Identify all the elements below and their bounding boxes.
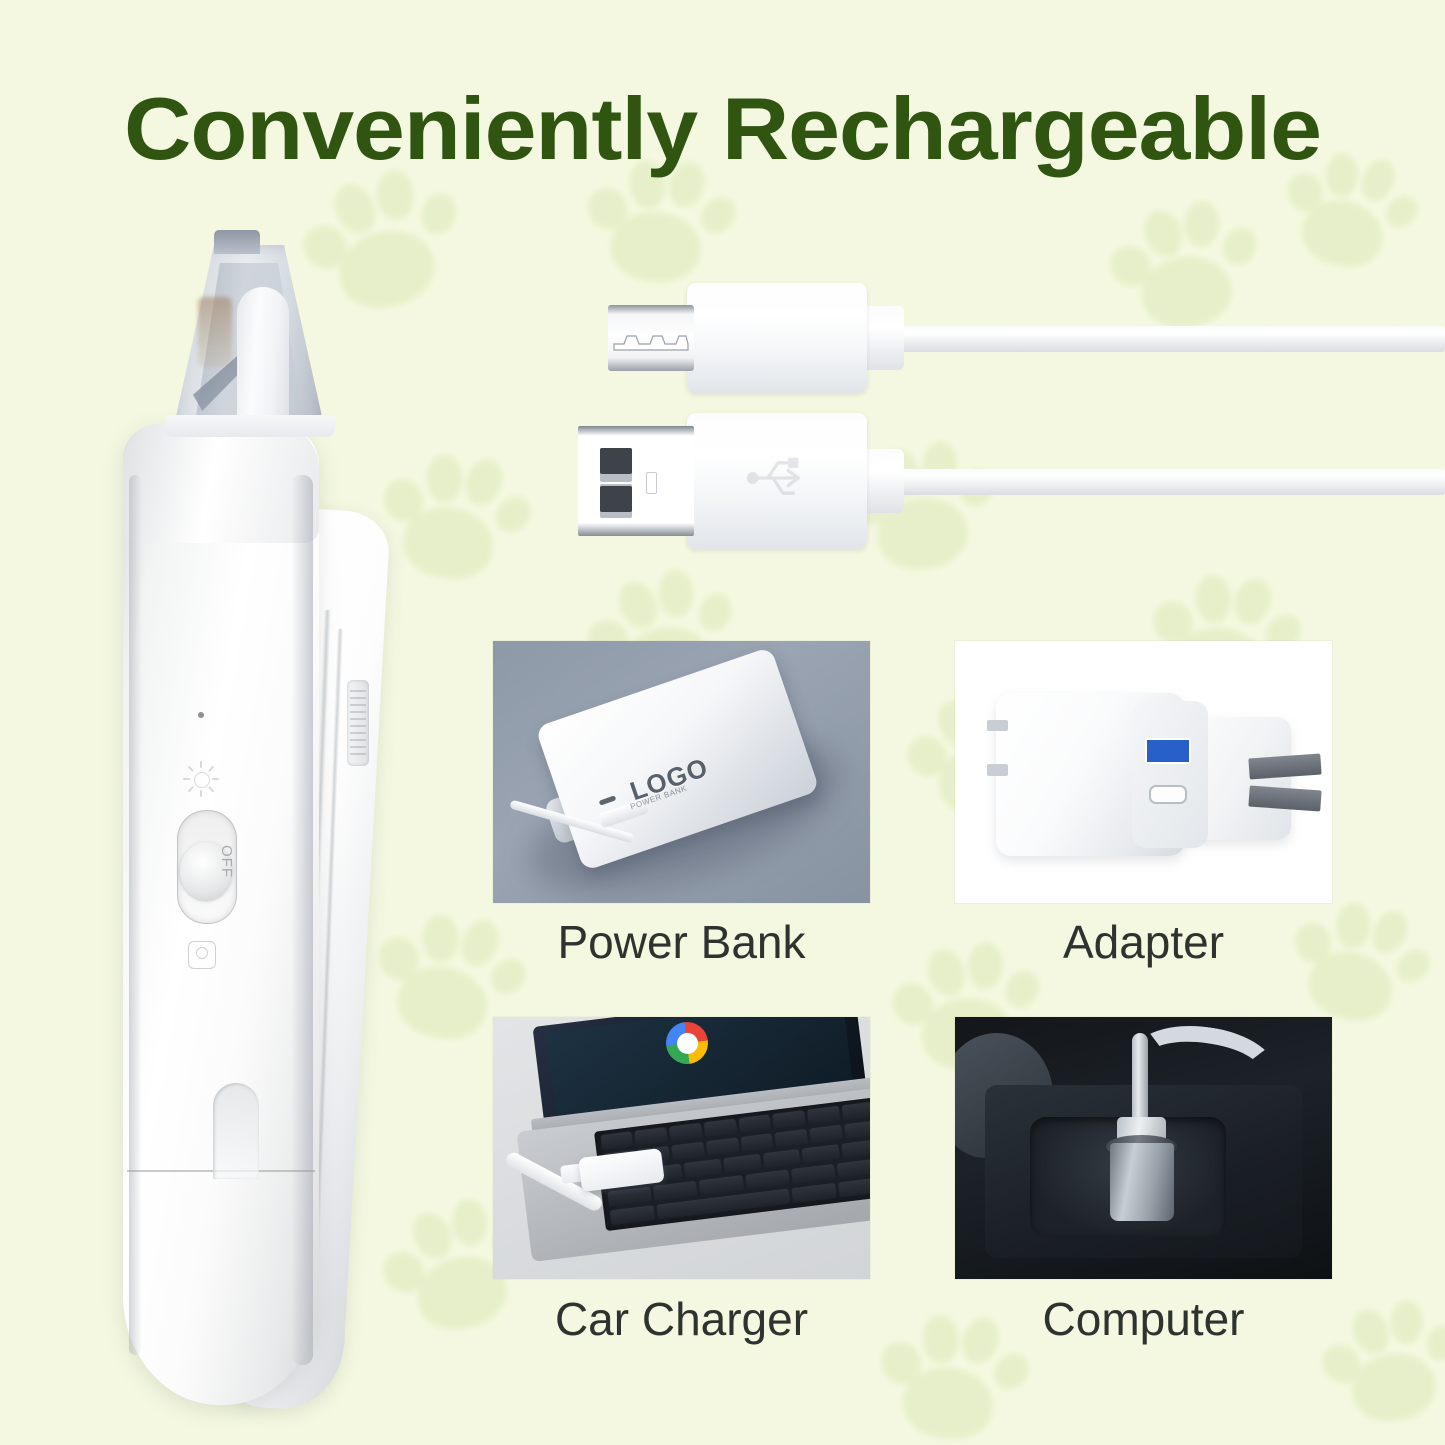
clipper-guard-lip	[165, 415, 335, 437]
usb-a-tip	[578, 426, 694, 536]
adapter-usb-a-port	[1145, 738, 1190, 764]
clipper-release-button[interactable]	[347, 680, 369, 766]
clipper-bottom-slot	[213, 1083, 259, 1179]
adapter-usb-c-port	[1149, 785, 1187, 803]
power-icon	[188, 941, 216, 969]
charging-option-photo-power-bank: LOGO POWER BANK	[493, 641, 870, 903]
car-charger-adapter	[1110, 1143, 1174, 1222]
led-indicator-icon	[198, 712, 204, 718]
nail-clipper-product-image: OFF	[95, 225, 455, 1405]
charging-option-label-adapter: Adapter	[955, 915, 1332, 969]
clipper-body-shoulder	[123, 423, 319, 543]
charging-option-photo-car-charger	[493, 1017, 870, 1279]
usb-a-wire	[893, 469, 1445, 495]
charging-option-label-car-charger: Car Charger	[493, 1292, 870, 1346]
micro-usb-tip	[608, 305, 694, 371]
page-title: Conveniently Rechargeable	[0, 78, 1445, 180]
clipper-body-edge-left	[129, 475, 142, 1355]
clipper-body-edge-right	[291, 475, 313, 1365]
clipper-guard-top-cap	[214, 230, 260, 254]
light-icon	[183, 761, 219, 797]
usb-logo-icon	[740, 440, 816, 516]
charging-option-label-computer: Computer	[955, 1292, 1332, 1346]
switch-off-label: OFF	[218, 845, 235, 878]
clipper-plunger	[237, 287, 289, 425]
micro-usb-pin-slots	[608, 305, 694, 371]
micro-usb-wire	[893, 326, 1445, 352]
clipper-guard-tint	[198, 297, 232, 367]
micro-usb-connector-housing	[687, 283, 867, 393]
charging-option-label-power-bank: Power Bank	[493, 915, 870, 969]
infographic-canvas: Conveniently Rechargeable	[0, 0, 1445, 1445]
charging-option-photo-adapter	[955, 641, 1332, 903]
charging-option-photo-computer	[955, 1017, 1332, 1279]
paw-print-icon	[1099, 180, 1267, 340]
